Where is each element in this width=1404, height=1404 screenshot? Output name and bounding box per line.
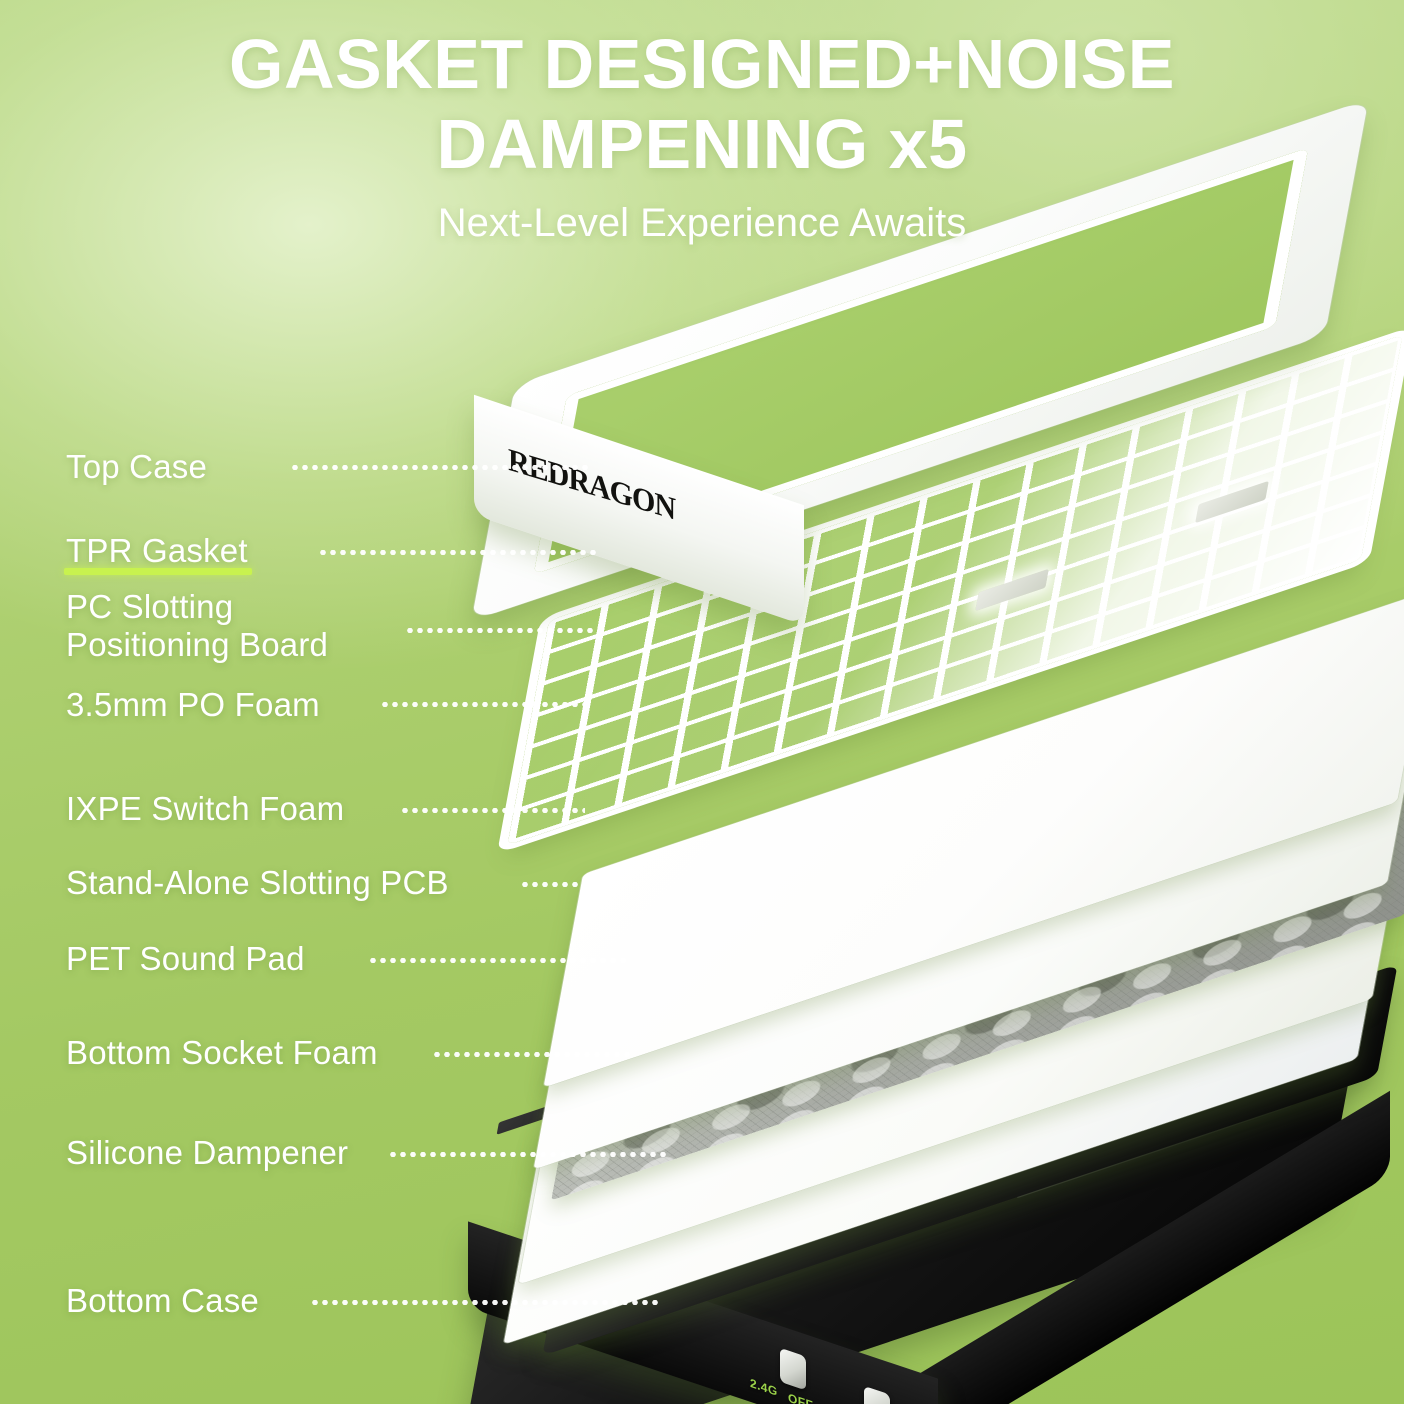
label-text: Stand-Alone Slotting PCB <box>66 864 449 901</box>
label-text: PET Sound Pad <box>66 940 305 977</box>
label-text: 3.5mm PO Foam <box>66 686 320 723</box>
label-text-line2: Positioning Board <box>66 626 496 664</box>
label-po-foam: 3.5mm PO Foam <box>66 686 320 724</box>
label-text: Top Case <box>66 448 207 485</box>
label-silicone-dampener: Silicone Dampener <box>66 1134 348 1172</box>
label-ixpe-switch-foam: IXPE Switch Foam <box>66 790 344 828</box>
label-tpr-gasket: TPR Gasket <box>66 532 248 570</box>
label-text: Bottom Socket Foam <box>66 1034 378 1071</box>
label-text: Bottom Case <box>66 1282 259 1319</box>
label-bottom-socket-foam: Bottom Socket Foam <box>66 1034 378 1072</box>
label-bottom-case: Bottom Case <box>66 1282 259 1320</box>
label-text: IXPE Switch Foam <box>66 790 344 827</box>
label-pc-positioning-board: PC Slotting Positioning Board <box>66 588 496 664</box>
connectivity-switch[interactable] <box>780 1348 806 1391</box>
label-text: Silicone Dampener <box>66 1134 348 1171</box>
label-pet-sound-pad: PET Sound Pad <box>66 940 305 978</box>
switch-label-24g: 2.4G <box>750 1376 778 1399</box>
label-top-case: Top Case <box>66 448 207 486</box>
label-text: TPR Gasket <box>66 532 248 570</box>
switch-label-off: OFF <box>788 1390 813 1404</box>
layer-label-list: Top Case TPR Gasket PC Slotting Position… <box>0 0 560 1404</box>
os-mode-switch[interactable] <box>864 1386 890 1404</box>
label-text-line1: PC Slotting <box>66 588 496 626</box>
label-slotting-pcb: Stand-Alone Slotting PCB <box>66 864 449 902</box>
infographic-canvas: 2.4G OFF BT MAC WIN <box>0 0 1404 1404</box>
